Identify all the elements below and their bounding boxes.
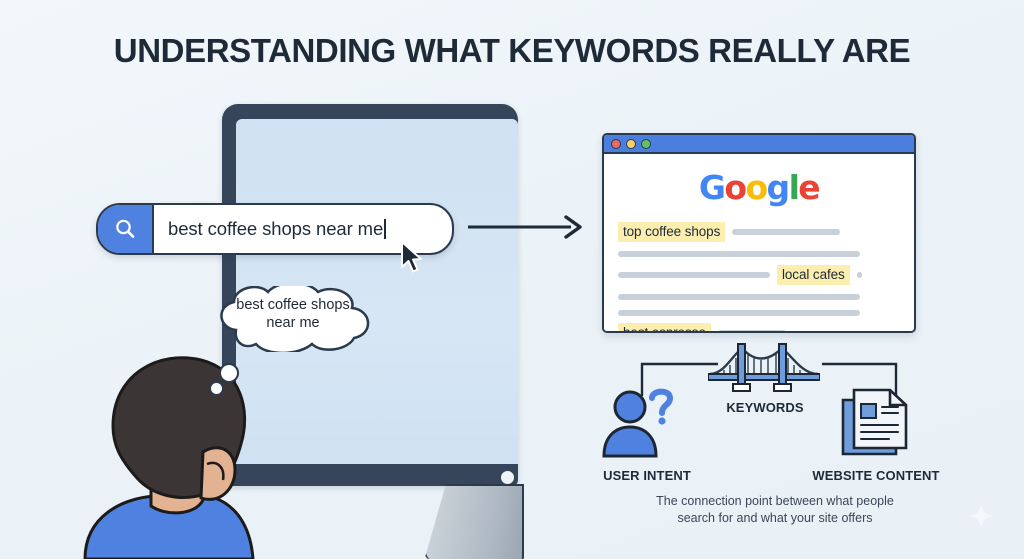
browser-window[interactable]: Google top coffee shops local cafes bes (602, 133, 916, 333)
monitor-stand (424, 484, 524, 559)
keyword-chip: best espresso (618, 323, 711, 333)
skeleton-line (618, 294, 860, 300)
maximize-dot[interactable] (641, 139, 651, 149)
label-user-intent: USER INTENT (572, 468, 722, 483)
thought-bubble-dot-small (209, 381, 224, 396)
caption-line-1: The connection point between what people (600, 493, 950, 510)
thought-bubble-dot-large (219, 363, 239, 383)
result-row[interactable]: local cafes (604, 268, 914, 282)
skeleton-line (618, 251, 860, 257)
caption: The connection point between what people… (600, 493, 950, 527)
person-illustration (55, 348, 305, 559)
result-row[interactable]: best espresso (604, 326, 914, 333)
result-row[interactable] (604, 247, 914, 261)
infographic-canvas: UNDERSTANDING WHAT KEYWORDS REALLY ARE b… (0, 0, 1024, 559)
sparkle-watermark (968, 503, 994, 529)
keyword-chip: local cafes (777, 265, 850, 285)
flow-arrow (468, 212, 584, 242)
result-row[interactable] (604, 290, 914, 304)
skeleton-line (618, 272, 770, 278)
label-keywords: KEYWORDS (700, 400, 830, 415)
close-dot[interactable] (611, 139, 621, 149)
bridge-icon (708, 340, 820, 398)
skeleton-line (718, 330, 786, 333)
label-website-content: WEBSITE CONTENT (796, 468, 956, 483)
skeleton-line (618, 310, 860, 316)
monitor-power-indicator (499, 469, 516, 486)
page-title: UNDERSTANDING WHAT KEYWORDS REALLY ARE (0, 32, 1024, 70)
google-logo: Google (604, 168, 914, 207)
user-question-icon (600, 388, 684, 458)
browser-titlebar (604, 135, 914, 154)
search-icon[interactable] (98, 205, 154, 253)
documents-icon (840, 386, 912, 460)
caption-line-2: search for and what your site offers (600, 510, 950, 527)
keyword-chip: top coffee shops (618, 222, 725, 242)
search-query-text: best coffee shops near me (168, 218, 383, 239)
thought-bubble (208, 286, 378, 352)
result-row[interactable] (604, 306, 914, 320)
skeleton-dot (857, 272, 862, 278)
minimize-dot[interactable] (626, 139, 636, 149)
result-row[interactable]: top coffee shops (604, 225, 914, 239)
skeleton-line (732, 229, 840, 235)
browser-content: Google top coffee shops local cafes bes (604, 154, 914, 331)
search-input[interactable]: best coffee shops near me (154, 218, 452, 240)
text-caret (384, 219, 386, 239)
mouse-pointer-icon (400, 240, 424, 274)
